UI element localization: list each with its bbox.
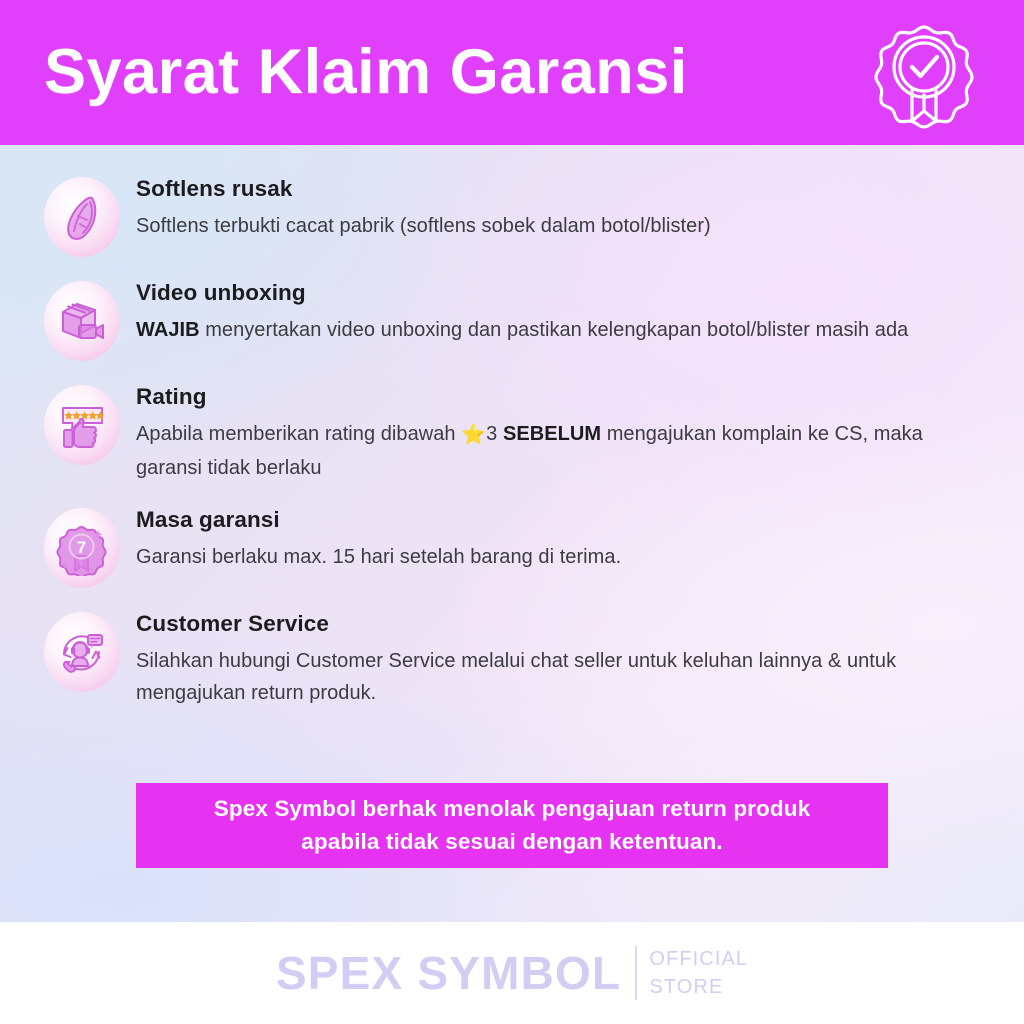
page-title: Syarat Klaim Garansi [44,39,864,105]
torn-softlens-icon [44,177,120,257]
list-item: Customer Service Silahkan hubungi Custom… [44,610,984,710]
disclaimer-banner: Spex Symbol berhak menolak pengajuan ret… [136,783,888,868]
svg-text:7: 7 [77,538,86,557]
desc-segment-bold: WAJIB [136,319,200,341]
warranty-claim-infographic: Syarat Klaim Garansi [0,0,1024,1024]
list-item-desc: Softlens terbukti cacat pabrik (softlens… [136,210,984,242]
medal-ribbon-seven-icon: 7 [44,508,120,588]
list-item-title: Softlens rusak [136,175,984,203]
list-item-title: Rating [136,383,984,411]
list-item-desc: Garansi berlaku max. 15 hari setelah bar… [136,541,984,573]
list-item-text: Masa garansi Garansi berlaku max. 15 har… [136,506,984,574]
desc-segment: Apabila memberikan rating dibawah [136,423,461,445]
disclaimer-line-1: Spex Symbol berhak menolak pengajuan ret… [214,793,810,825]
brand-subtitle-line-1: OFFICIAL [649,945,748,973]
logo-divider [635,946,637,1000]
brand-name: SPEX SYMBOL [276,950,622,996]
list-item-text: Rating Apabila memberikan rating dibawah… [136,383,984,484]
desc-segment: Softlens terbukti cacat pabrik (softlens… [136,215,711,237]
list-item: Rating Apabila memberikan rating dibawah… [44,383,984,484]
footer: SPEX SYMBOL OFFICIAL STORE [0,922,1024,1024]
list-item-text: Video unboxing WAJIB menyertakan video u… [136,279,984,347]
list-item-text: Customer Service Silahkan hubungi Custom… [136,610,984,710]
list-item-text: Softlens rusak Softlens terbukti cacat p… [136,175,984,243]
list-item-desc: Silahkan hubungi Customer Service melalu… [136,645,984,710]
brand-logo: SPEX SYMBOL OFFICIAL STORE [276,945,748,1002]
list-item-title: Customer Service [136,610,984,638]
requirements-list: Softlens rusak Softlens terbukti cacat p… [0,175,1024,710]
list-item-desc: Apabila memberikan rating dibawah ⭐3 SEB… [136,418,984,484]
box-video-camera-icon [44,281,120,361]
thumbs-up-five-stars-icon [44,385,120,465]
disclaimer-line-2: apabila tidak sesuai dengan ketentuan. [301,826,722,858]
desc-segment: 3 [486,423,503,445]
award-ribbon-check-icon [864,13,984,133]
list-item: 7 Masa garansi Garansi berlaku max. 15 h… [44,506,984,588]
brand-subtitle-line-2: STORE [649,973,748,1001]
list-item: Softlens rusak Softlens terbukti cacat p… [44,175,984,257]
desc-segment: Silahkan hubungi Customer Service melalu… [136,650,896,704]
desc-segment: menyertakan video unboxing dan pastikan … [200,319,909,341]
list-item-title: Video unboxing [136,279,984,307]
list-item-title: Masa garansi [136,506,984,534]
desc-segment: Garansi berlaku max. 15 hari setelah bar… [136,546,621,568]
customer-service-headset-icon [44,612,120,692]
star-icon: ⭐ [461,419,486,451]
header-banner: Syarat Klaim Garansi [0,0,1024,145]
desc-segment-bold: SEBELUM [503,423,601,445]
list-item-desc: WAJIB menyertakan video unboxing dan pas… [136,314,984,346]
brand-subtitle: OFFICIAL STORE [649,945,748,1002]
list-item: Video unboxing WAJIB menyertakan video u… [44,279,984,361]
